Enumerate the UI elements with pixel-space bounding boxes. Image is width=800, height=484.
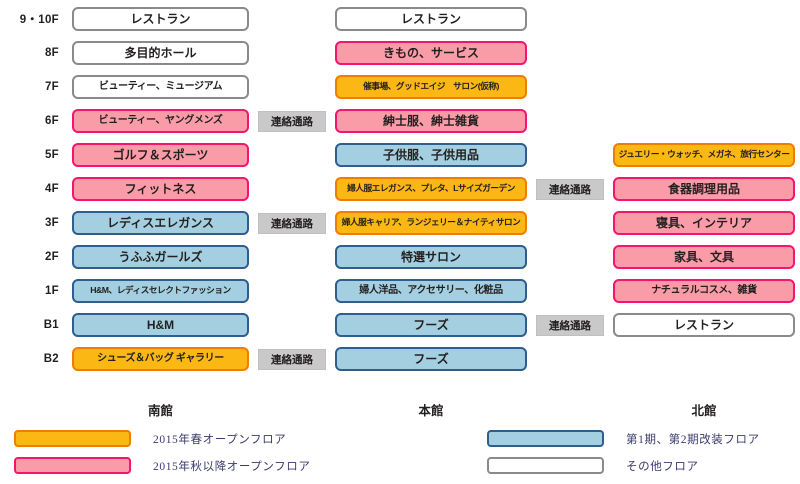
floor-tenant-label: ビューティー、ヤングメンズ <box>74 116 247 127</box>
floor-guide-diagram: 9・10Fレストランレストラン8F多目的ホールきもの、サービス7Fビューティー、… <box>0 0 800 395</box>
floor-slot-south: ゴルフ＆スポーツ <box>68 142 253 168</box>
legend-swatch <box>487 457 604 474</box>
floor-tenant-box[interactable]: 紳士服、紳士雑貨 <box>335 109 527 133</box>
floor-tenant-label: 家具、文具 <box>615 251 793 264</box>
floor-slot-main: フーズ <box>331 346 531 372</box>
legend: 2015年春オープンフロア2015年秋以降オープンフロア 第1期、第2期改装フロ… <box>0 428 800 484</box>
floor-slot-south: ビューティー、ヤングメンズ <box>68 108 253 134</box>
floor-slot-gapL <box>253 142 331 168</box>
floor-tenant-label: 婦人服エレガンス、プレタ、Lサイズガーデン <box>337 184 525 193</box>
floor-slot-gapL <box>253 278 331 304</box>
floor-tenant-label: ジュエリー・ウォッチ、メガネ、旅行センター <box>615 150 793 159</box>
floor-slot-south: うふふガールズ <box>68 244 253 270</box>
floor-number-label: B1 <box>0 319 68 331</box>
floor-tenant-label: 催事場、グッドエイジ サロン(仮称) <box>337 82 525 91</box>
floor-tenant-box[interactable]: 多目的ホール <box>72 41 249 65</box>
floor-tenant-box[interactable]: ビューティー、ミュージアム <box>72 75 249 99</box>
legend-item: 2015年春オープンフロア <box>14 428 310 449</box>
floor-row: 1FH&M、レディスセレクトファッション婦人洋品、アクセサリー、化粧品ナチュラル… <box>0 276 800 306</box>
corridor-label: 連絡通路 <box>549 182 591 197</box>
floor-tenant-box[interactable]: 催事場、グッドエイジ サロン(仮称) <box>335 75 527 99</box>
legend-swatch <box>14 457 131 474</box>
legend-label: その他フロア <box>626 458 699 474</box>
corridor-label: 連絡通路 <box>549 318 591 333</box>
floor-tenant-label: 寝具、インテリア <box>615 217 793 230</box>
floor-slot-north: 寝具、インテリア <box>609 210 799 236</box>
floor-tenant-box[interactable]: フーズ <box>335 313 527 337</box>
floor-number-label: 2F <box>0 251 68 263</box>
floor-slot-gapL <box>253 6 331 32</box>
corridor-connector: 連絡通路 <box>258 111 326 132</box>
floor-slot-gapL <box>253 40 331 66</box>
floor-tenant-label: フィットネス <box>74 183 247 196</box>
floor-slot-main: きもの、サービス <box>331 40 531 66</box>
floor-slot-gapL: 連絡通路 <box>253 210 331 236</box>
floor-slot-gapL <box>253 244 331 270</box>
legend-column-right: 第1期、第2期改装フロアその他フロア <box>487 428 760 476</box>
floor-number-label: 4F <box>0 183 68 195</box>
floor-slot-gapR <box>531 278 609 304</box>
floor-tenant-box[interactable]: 子供服、子供用品 <box>335 143 527 167</box>
floor-slot-gapL <box>253 176 331 202</box>
floor-tenant-label: レストラン <box>74 13 247 26</box>
floor-slot-gapR <box>531 210 609 236</box>
floor-tenant-box[interactable]: きもの、サービス <box>335 41 527 65</box>
floor-tenant-box[interactable]: 婦人服キャリア、ランジェリー＆ナイティサロン <box>335 211 527 235</box>
floor-tenant-label: レストラン <box>615 319 793 332</box>
floor-slot-north: ナチュラルコスメ、雑貨 <box>609 278 799 304</box>
floor-tenant-label: H&M <box>74 319 247 332</box>
floor-row: B2シューズ＆バッグ ギャラリー連絡通路フーズ <box>0 344 800 374</box>
floor-tenant-label: レディスエレガンス <box>74 217 247 230</box>
floor-tenant-label: H&M、レディスセレクトファッション <box>74 286 247 295</box>
floor-tenant-box[interactable]: 婦人洋品、アクセサリー、化粧品 <box>335 279 527 303</box>
floor-row: 2Fうふふガールズ特選サロン家具、文具 <box>0 242 800 272</box>
floor-slot-south: シューズ＆バッグ ギャラリー <box>68 346 253 372</box>
floor-slot-gapR <box>531 142 609 168</box>
corridor-connector: 連絡通路 <box>536 179 604 200</box>
floor-slot-south: レディスエレガンス <box>68 210 253 236</box>
floor-slot-gapR <box>531 74 609 100</box>
legend-label: 2015年秋以降オープンフロア <box>153 458 310 474</box>
floor-slot-gapR <box>531 108 609 134</box>
corridor-label: 連絡通路 <box>271 352 313 367</box>
floor-number-label: 6F <box>0 115 68 127</box>
floor-slot-south: 多目的ホール <box>68 40 253 66</box>
floor-tenant-label: ナチュラルコスメ、雑貨 <box>615 286 793 297</box>
floor-tenant-label: うふふガールズ <box>74 251 247 264</box>
floor-slot-north <box>609 40 799 66</box>
floor-slot-south: ビューティー、ミュージアム <box>68 74 253 100</box>
floor-slot-south: H&M、レディスセレクトファッション <box>68 278 253 304</box>
floor-number-label: 8F <box>0 47 68 59</box>
corridor-connector: 連絡通路 <box>258 349 326 370</box>
floor-tenant-box[interactable]: H&M <box>72 313 249 337</box>
floor-slot-north: レストラン <box>609 312 799 338</box>
floor-number-label: 3F <box>0 217 68 229</box>
floor-number-label: 5F <box>0 149 68 161</box>
floor-slot-north <box>609 108 799 134</box>
building-caption-north: 北館 <box>609 400 799 419</box>
floor-slot-north <box>609 74 799 100</box>
floor-tenant-label: きもの、サービス <box>337 47 525 60</box>
floor-row: 7Fビューティー、ミュージアム催事場、グッドエイジ サロン(仮称) <box>0 72 800 102</box>
floor-tenant-label: ゴルフ＆スポーツ <box>74 149 247 162</box>
floor-tenant-label: 婦人服キャリア、ランジェリー＆ナイティサロン <box>337 218 525 227</box>
legend-label: 第1期、第2期改装フロア <box>626 431 760 447</box>
floor-slot-gapR: 連絡通路 <box>531 312 609 338</box>
floor-tenant-label: ビューティー、ミュージアム <box>74 82 247 93</box>
floor-slot-main: 催事場、グッドエイジ サロン(仮称) <box>331 74 531 100</box>
floor-tenant-label: 特選サロン <box>337 251 525 264</box>
floor-tenant-box[interactable]: レストラン <box>72 7 249 31</box>
floor-slot-gapR <box>531 346 609 372</box>
floor-tenant-box[interactable]: レディスエレガンス <box>72 211 249 235</box>
floor-tenant-box[interactable]: H&M、レディスセレクトファッション <box>72 279 249 303</box>
floor-tenant-box[interactable]: レストラン <box>613 313 795 337</box>
floor-slot-gapR: 連絡通路 <box>531 176 609 202</box>
legend-item: 第1期、第2期改装フロア <box>487 428 760 449</box>
floor-tenant-box[interactable]: フーズ <box>335 347 527 371</box>
floor-tenant-label: フーズ <box>337 353 525 366</box>
floor-tenant-box[interactable]: ジュエリー・ウォッチ、メガネ、旅行センター <box>613 143 795 167</box>
floor-tenant-box[interactable]: 寝具、インテリア <box>613 211 795 235</box>
floor-slot-south: フィットネス <box>68 176 253 202</box>
floor-slot-gapR <box>531 6 609 32</box>
floor-row: 6Fビューティー、ヤングメンズ連絡通路紳士服、紳士雑貨 <box>0 106 800 136</box>
corridor-label: 連絡通路 <box>271 114 313 129</box>
floor-number-label: 1F <box>0 285 68 297</box>
floor-row: B1H&Mフーズ連絡通路レストラン <box>0 310 800 340</box>
legend-label: 2015年春オープンフロア <box>153 431 286 447</box>
floor-tenant-box[interactable]: レストラン <box>335 7 527 31</box>
floor-tenant-box[interactable]: 特選サロン <box>335 245 527 269</box>
floor-tenant-label: フーズ <box>337 319 525 332</box>
floor-row: 4Fフィットネス婦人服エレガンス、プレタ、Lサイズガーデン連絡通路食器調理用品 <box>0 174 800 204</box>
floor-slot-gapL: 連絡通路 <box>253 108 331 134</box>
corridor-label: 連絡通路 <box>271 216 313 231</box>
floor-tenant-box[interactable]: 家具、文具 <box>613 245 795 269</box>
floor-tenant-label: 紳士服、紳士雑貨 <box>337 115 525 128</box>
floor-slot-main: 婦人洋品、アクセサリー、化粧品 <box>331 278 531 304</box>
floor-tenant-box[interactable]: ナチュラルコスメ、雑貨 <box>613 279 795 303</box>
corridor-connector: 連絡通路 <box>536 315 604 336</box>
floor-slot-north: ジュエリー・ウォッチ、メガネ、旅行センター <box>609 142 799 168</box>
floor-tenant-label: レストラン <box>337 13 525 26</box>
floor-tenant-box[interactable]: 食器調理用品 <box>613 177 795 201</box>
floor-slot-main: レストラン <box>331 6 531 32</box>
building-caption-south: 南館 <box>68 400 253 419</box>
floor-slot-main: 婦人服キャリア、ランジェリー＆ナイティサロン <box>331 210 531 236</box>
floor-slot-south: レストラン <box>68 6 253 32</box>
floor-row: 8F多目的ホールきもの、サービス <box>0 38 800 68</box>
floor-tenant-label: 食器調理用品 <box>615 183 793 196</box>
floor-slot-gapL: 連絡通路 <box>253 346 331 372</box>
building-caption-main: 本館 <box>331 400 531 419</box>
floor-slot-gapL <box>253 74 331 100</box>
legend-column-left: 2015年春オープンフロア2015年秋以降オープンフロア <box>14 428 310 476</box>
floor-slot-north <box>609 346 799 372</box>
floor-number-label: 7F <box>0 81 68 93</box>
floor-tenant-box[interactable]: シューズ＆バッグ ギャラリー <box>72 347 249 371</box>
floor-slot-main: 婦人服エレガンス、プレタ、Lサイズガーデン <box>331 176 531 202</box>
floor-tenant-box[interactable]: ゴルフ＆スポーツ <box>72 143 249 167</box>
floor-row: 5Fゴルフ＆スポーツ子供服、子供用品ジュエリー・ウォッチ、メガネ、旅行センター <box>0 140 800 170</box>
floor-slot-gapL <box>253 312 331 338</box>
floor-number-label: B2 <box>0 353 68 365</box>
legend-swatch <box>487 430 604 447</box>
floor-slot-north: 家具、文具 <box>609 244 799 270</box>
floor-tenant-label: 子供服、子供用品 <box>337 149 525 162</box>
floor-tenant-label: シューズ＆バッグ ギャラリー <box>74 354 247 365</box>
floor-slot-main: 特選サロン <box>331 244 531 270</box>
building-captions: 南館 本館 北館 <box>0 398 800 420</box>
floor-slot-main: 子供服、子供用品 <box>331 142 531 168</box>
floor-slot-south: H&M <box>68 312 253 338</box>
floor-row: 9・10Fレストランレストラン <box>0 4 800 34</box>
floor-number-label: 9・10F <box>0 11 68 27</box>
legend-item: 2015年秋以降オープンフロア <box>14 455 310 476</box>
legend-swatch <box>14 430 131 447</box>
legend-item: その他フロア <box>487 455 760 476</box>
floor-slot-main: 紳士服、紳士雑貨 <box>331 108 531 134</box>
floor-slot-north <box>609 6 799 32</box>
floor-tenant-box[interactable]: ビューティー、ヤングメンズ <box>72 109 249 133</box>
floor-row: 3Fレディスエレガンス連絡通路婦人服キャリア、ランジェリー＆ナイティサロン寝具、… <box>0 208 800 238</box>
floor-tenant-box[interactable]: 婦人服エレガンス、プレタ、Lサイズガーデン <box>335 177 527 201</box>
floor-tenant-box[interactable]: フィットネス <box>72 177 249 201</box>
floor-slot-gapR <box>531 244 609 270</box>
floor-tenant-label: 多目的ホール <box>74 47 247 60</box>
floor-slot-north: 食器調理用品 <box>609 176 799 202</box>
floor-tenant-label: 婦人洋品、アクセサリー、化粧品 <box>337 286 525 297</box>
floor-slot-gapR <box>531 40 609 66</box>
floor-slot-main: フーズ <box>331 312 531 338</box>
corridor-connector: 連絡通路 <box>258 213 326 234</box>
floor-tenant-box[interactable]: うふふガールズ <box>72 245 249 269</box>
